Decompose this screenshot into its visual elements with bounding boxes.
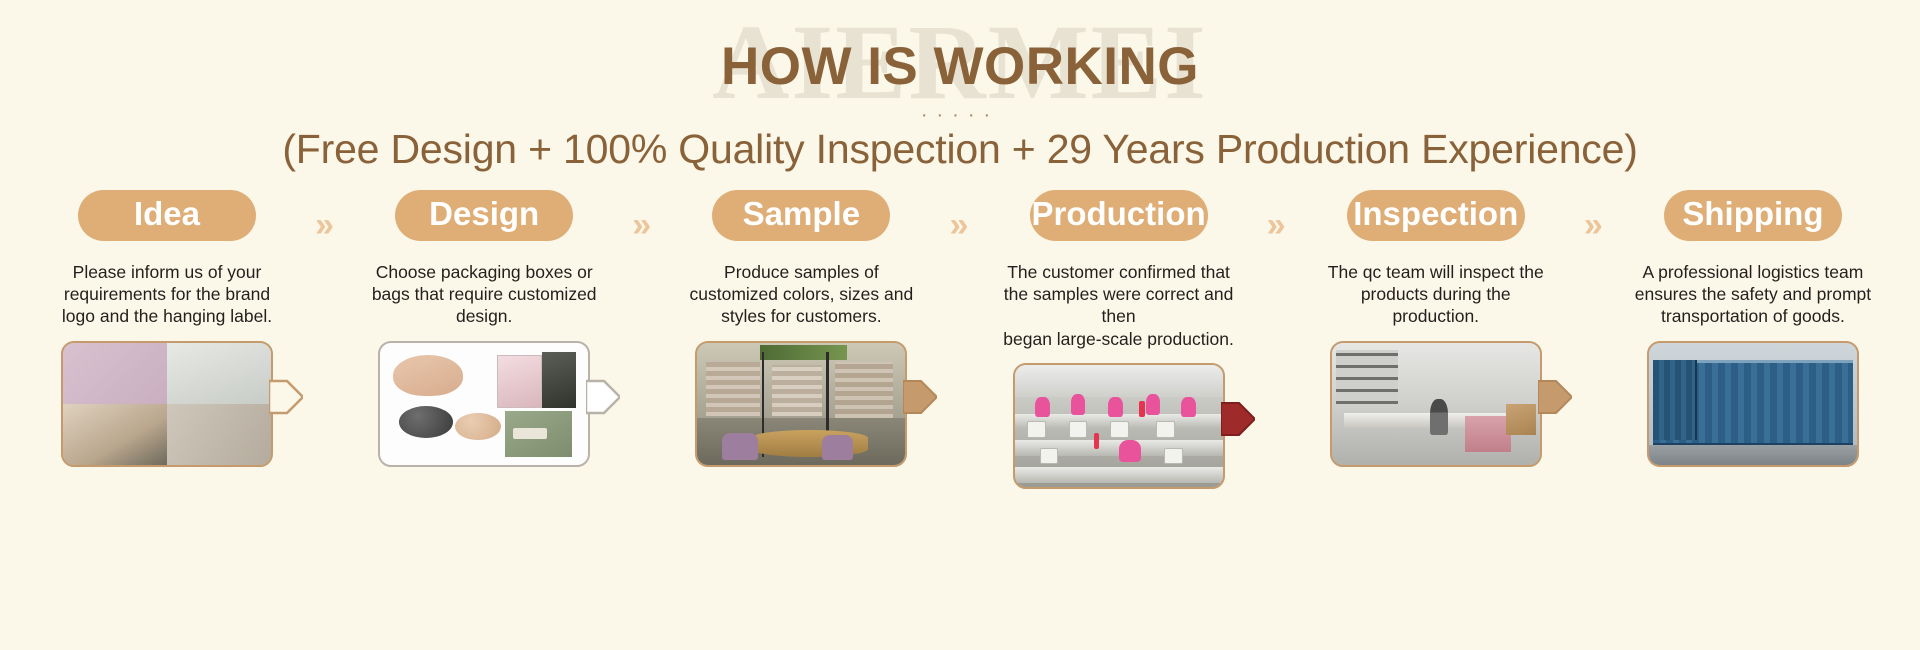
pink-product-stacks <box>1465 416 1511 453</box>
shipping-photo <box>1649 343 1857 465</box>
step-description-design: Choose packaging boxes or bags that requ… <box>365 261 603 328</box>
process-step-shipping: Shipping » A professional logistics team… <box>1624 190 1882 489</box>
pink-packaging-box <box>497 355 543 408</box>
logo-plate <box>513 428 546 439</box>
step-badge-production[interactable]: Production <box>1030 190 1208 241</box>
collage-cell-white-label <box>167 343 271 404</box>
step-description-inspection: The qc team will inspect the products du… <box>1317 261 1555 328</box>
sewing-machine-3 <box>1110 421 1129 438</box>
container-doors <box>1653 360 1697 441</box>
arrow-pointer-5 <box>1538 377 1572 417</box>
step-image-card-shipping[interactable] <box>1647 341 1859 467</box>
showroom-photo <box>697 343 905 465</box>
label-collage <box>63 343 271 465</box>
display-rack-left <box>706 362 760 416</box>
factory-worker-1 <box>1035 397 1050 418</box>
arrow-pointer-1 <box>269 377 303 417</box>
page-title: HOW IS WORKING <box>0 38 1920 96</box>
step-description-production: The customer confirmed that the samples … <box>1000 261 1238 350</box>
step-description-sample: Produce samples of customized colors, si… <box>682 261 920 328</box>
step-image-wrap-inspection <box>1330 328 1542 467</box>
green-plant-wall <box>760 345 847 360</box>
display-rack-center <box>772 365 822 416</box>
step-badge-idea[interactable]: Idea <box>78 190 256 241</box>
factory-worker-3 <box>1108 397 1123 418</box>
collage-cell-logo-stickers <box>167 404 271 465</box>
inspection-photo <box>1332 343 1540 465</box>
process-step-production: Production » The customer confirmed that… <box>990 190 1248 489</box>
factory-ceiling <box>1015 365 1223 397</box>
step-description-shipping: A professional logistics team ensures th… <box>1634 261 1872 328</box>
factory-worker-6 <box>1119 440 1142 462</box>
arrow-pointer-4 <box>1221 399 1255 439</box>
process-steps-row: Idea » Please inform us of your requirem… <box>0 190 1920 489</box>
collage-cell-pink-label <box>63 343 167 404</box>
dot-divider: ····· <box>0 105 1920 125</box>
step-badge-inspection[interactable]: Inspection <box>1347 190 1525 241</box>
step-image-wrap-sample <box>695 328 907 467</box>
collage-cell-hangtag <box>63 404 167 465</box>
chevron-right-icon-5: » <box>1584 208 1603 242</box>
thread-spool-1 <box>1139 401 1144 417</box>
chevron-right-icon-4: » <box>1267 208 1286 242</box>
sewing-machine-5 <box>1040 448 1059 465</box>
step-badge-design[interactable]: Design <box>395 190 573 241</box>
cardboard-cartons <box>1506 404 1535 436</box>
chevron-right-icon-1: » <box>315 208 334 242</box>
step-image-wrap-idea <box>61 328 273 467</box>
showroom-chair-right <box>822 435 853 459</box>
arrow-pointer-3 <box>903 377 937 417</box>
step-image-card-sample[interactable] <box>695 341 907 467</box>
factory-worker-4 <box>1146 394 1161 415</box>
storage-shelf <box>1336 350 1398 404</box>
qc-inspector <box>1430 399 1449 436</box>
process-step-sample: Sample » Produce samples of customized c… <box>672 190 930 489</box>
factory-worker-5 <box>1181 397 1196 418</box>
arrow-pointer-2 <box>586 377 620 417</box>
sewing-machine-6 <box>1164 448 1183 465</box>
display-rack-right <box>835 362 893 418</box>
sewing-table-row-3 <box>1015 467 1223 483</box>
bra-product <box>393 355 464 396</box>
process-step-idea: Idea » Please inform us of your requirem… <box>38 190 296 489</box>
step-badge-sample[interactable]: Sample <box>712 190 890 241</box>
step-image-wrap-production <box>1013 350 1225 489</box>
dark-tin-box <box>399 406 453 438</box>
sewing-machine-4 <box>1156 421 1175 438</box>
process-step-inspection: Inspection » The qc team will inspect th… <box>1307 190 1565 489</box>
process-step-design: Design » Choose packaging boxes or bags … <box>355 190 613 489</box>
how-is-working-banner: AIERMEI HOW IS WORKING ····· (Free Desig… <box>0 0 1920 650</box>
step-image-wrap-shipping <box>1647 328 1859 467</box>
factory-worker-2 <box>1071 394 1086 415</box>
step-image-card-idea[interactable] <box>61 341 273 467</box>
step-image-wrap-design <box>378 328 590 467</box>
factory-photo <box>1015 365 1223 487</box>
container-yard-ground <box>1649 445 1857 465</box>
step-image-card-design[interactable] <box>378 341 590 467</box>
chevron-right-icon-2: » <box>632 208 651 242</box>
beige-tin-box <box>455 413 501 440</box>
step-image-card-inspection[interactable] <box>1330 341 1542 467</box>
step-badge-shipping[interactable]: Shipping <box>1664 190 1842 241</box>
step-description-idea: Please inform us of your requirements fo… <box>48 261 286 328</box>
thread-spool-2 <box>1094 433 1099 449</box>
showroom-chair-left <box>722 433 757 460</box>
sewing-machine-1 <box>1027 421 1046 438</box>
sewing-machine-2 <box>1069 421 1088 438</box>
dark-packaging-box <box>542 352 575 408</box>
page-subtitle: (Free Design + 100% Quality Inspection +… <box>0 126 1920 173</box>
step-image-card-production[interactable] <box>1013 363 1225 489</box>
banner-header: AIERMEI HOW IS WORKING ····· (Free Desig… <box>0 0 1920 185</box>
chevron-right-icon-3: » <box>949 208 968 242</box>
